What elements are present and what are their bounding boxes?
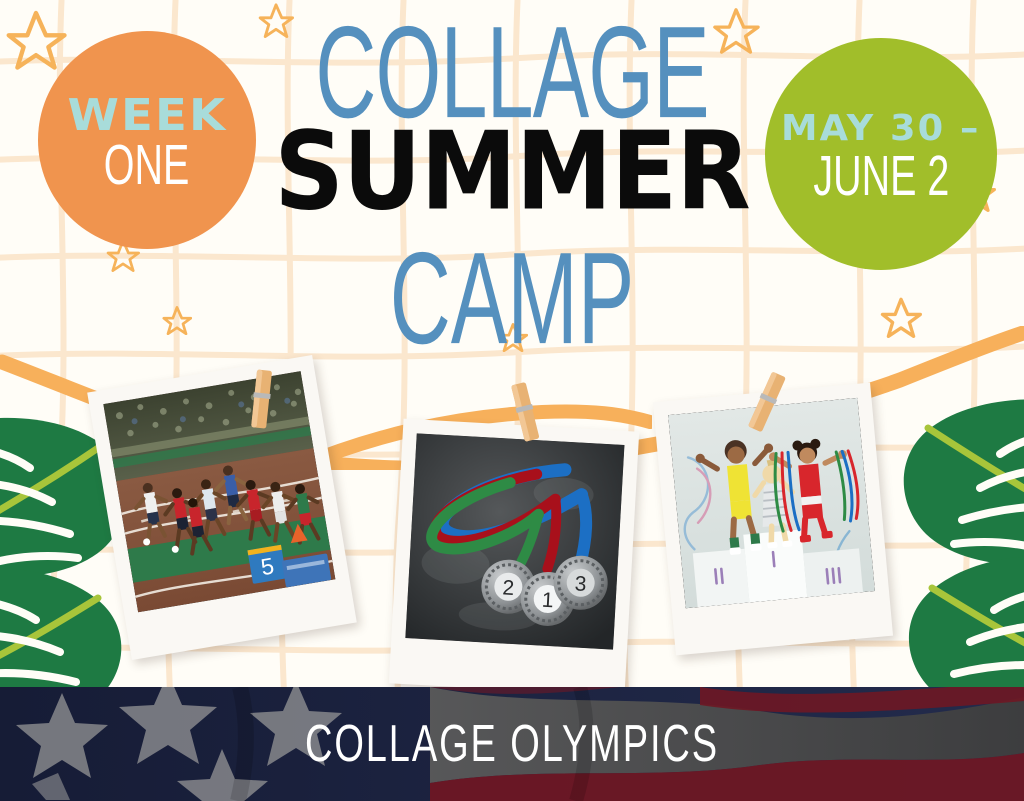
dates-badge-line2: JUNE 2 (813, 149, 949, 203)
banner-title: COLLAGE OLYMPICS (26, 687, 999, 801)
svg-text:1: 1 (541, 589, 554, 613)
summer-camp-poster: WEEK ONE MAY 30 – JUNE 2 COLLAGE SUMMER … (0, 0, 1024, 801)
svg-text:2: 2 (502, 576, 515, 600)
track-race-photo: 5 (103, 371, 335, 612)
week-badge-line2: ONE (104, 138, 190, 192)
star-icon (880, 296, 922, 338)
star-icon (162, 305, 192, 335)
title-line-camp: CAMP (41, 248, 983, 353)
bottom-banner: COLLAGE OLYMPICS (0, 687, 1024, 801)
star-icon (498, 322, 528, 352)
polaroid-photo-podium (653, 383, 893, 656)
dates-badge-line1: MAY 30 – (781, 112, 980, 146)
medals-photo: 2 1 3 (405, 433, 624, 649)
dates-badge: MAY 30 – JUNE 2 (765, 38, 997, 270)
star-icon (712, 6, 760, 54)
monstera-leaf-icon (894, 386, 1024, 706)
polaroid-photo-medals: 2 1 3 (389, 419, 639, 697)
podium-kids-photo (668, 398, 875, 608)
svg-text:3: 3 (574, 572, 587, 596)
star-icon (258, 2, 294, 38)
polaroid-photo-track: 5 (87, 355, 357, 660)
star-icon (5, 8, 67, 70)
week-badge-line1: WEEK (67, 95, 227, 137)
week-badge: WEEK ONE (38, 31, 256, 249)
